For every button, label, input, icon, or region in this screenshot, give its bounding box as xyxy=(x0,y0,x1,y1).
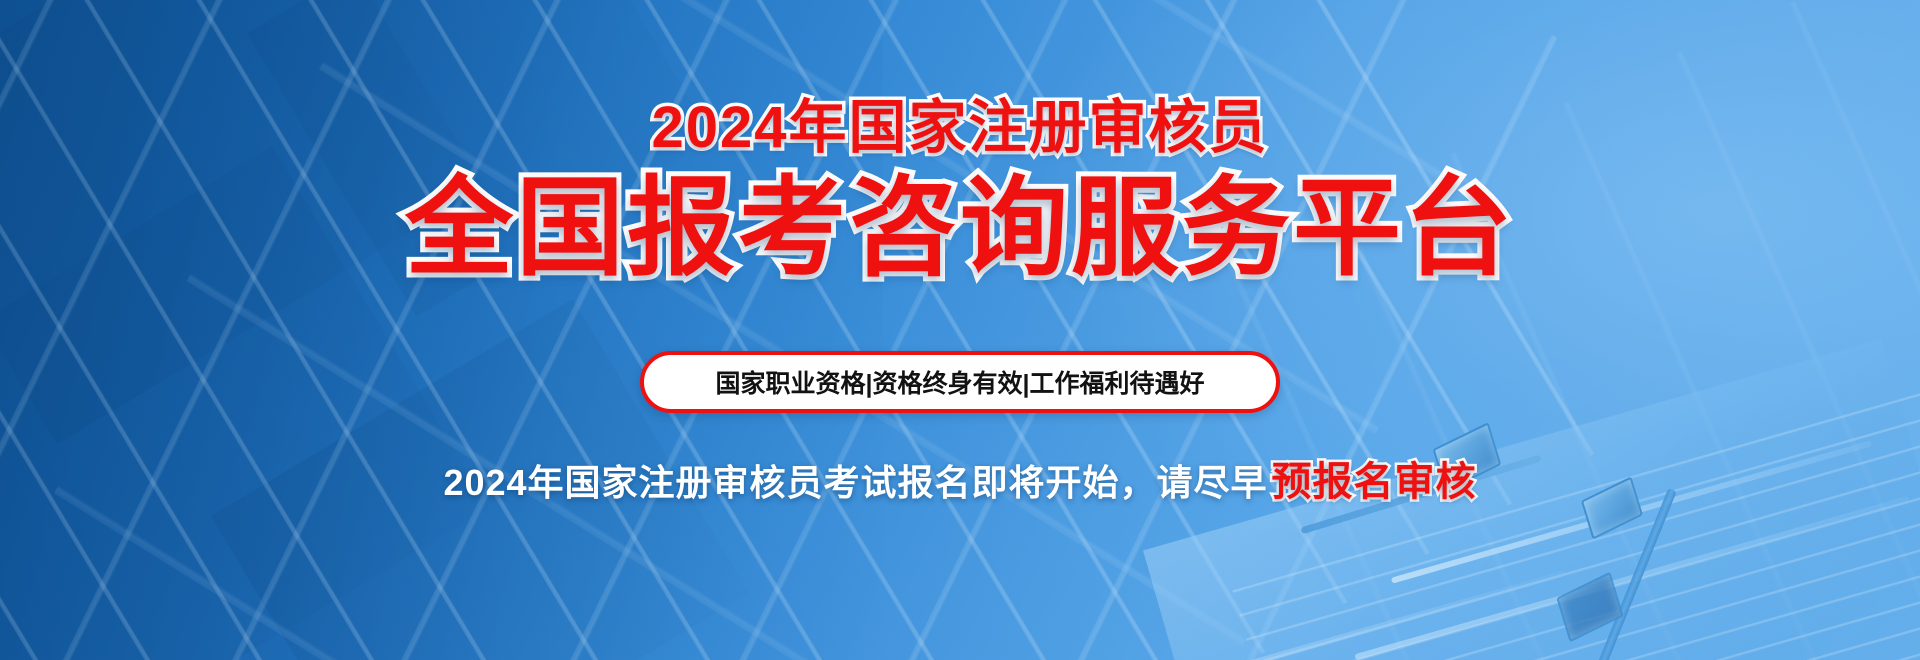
tagline-highlight: 预报名审核 xyxy=(1272,460,1477,504)
headline-line-2: 全国报考咨询服务平台 xyxy=(0,171,1920,284)
headline-block: 2024年国家注册审核员 全国报考咨询服务平台 xyxy=(0,0,1920,285)
banner-content: 2024年国家注册审核员 全国报考咨询服务平台 国家职业资格|资格终身有效|工作… xyxy=(0,0,1920,660)
tagline: 2024年国家注册审核员考试报名即将开始，请尽早预报名审核 xyxy=(443,449,1476,507)
headline-line-1: 2024年国家注册审核员 xyxy=(0,98,1920,157)
benefits-pill-text: 国家职业资格|资格终身有效|工作福利待遇好 xyxy=(716,364,1205,400)
benefits-pill[interactable]: 国家职业资格|资格终身有效|工作福利待遇好 xyxy=(640,351,1280,413)
tagline-prefix: 2024年国家注册审核员考试报名即将开始，请尽早 xyxy=(443,462,1267,503)
promo-banner: 2024年国家注册审核员 全国报考咨询服务平台 国家职业资格|资格终身有效|工作… xyxy=(0,0,1920,660)
